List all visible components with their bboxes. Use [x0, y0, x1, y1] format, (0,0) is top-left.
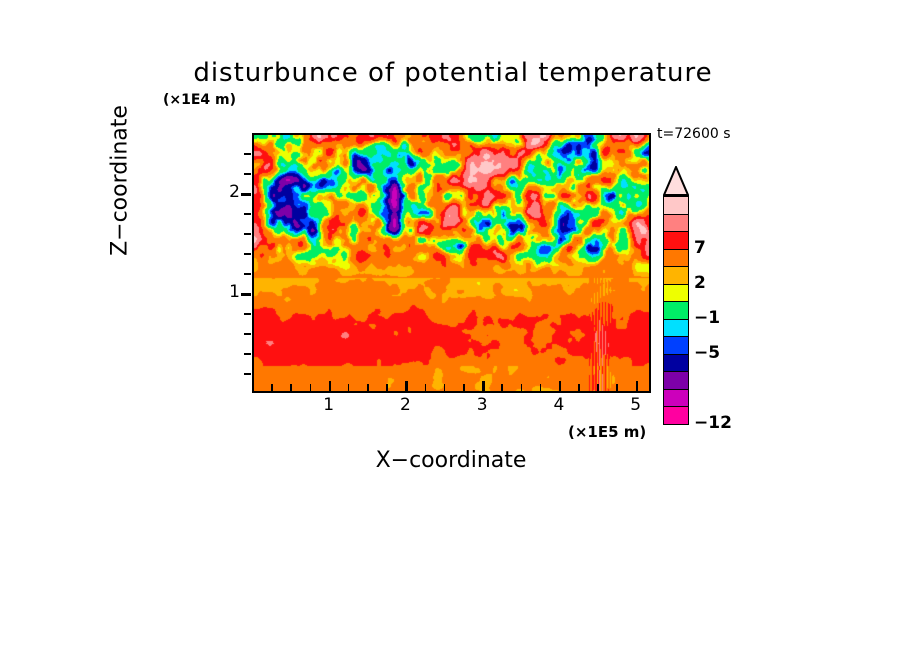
y-axis-tick — [244, 213, 251, 215]
y-axis-tick — [241, 293, 251, 296]
y-axis-tick — [244, 233, 251, 235]
x-axis-tick — [597, 384, 599, 391]
y-axis-tick — [244, 373, 251, 375]
x-axis-tick — [521, 384, 523, 391]
x-axis-tick — [310, 384, 312, 391]
x-axis-tick — [559, 381, 562, 391]
x-axis-tick-label: 2 — [393, 395, 417, 415]
y-axis-tick — [244, 273, 251, 275]
x-axis-tick — [636, 381, 639, 391]
contour-plot-area — [252, 133, 651, 393]
y-axis-title: Z−coordinate — [108, 51, 133, 311]
x-axis-title: X−coordinate — [251, 448, 651, 473]
x-axis-tick — [578, 384, 580, 391]
x-axis-tick — [386, 384, 388, 391]
x-axis-tick — [367, 384, 369, 391]
colorbar-segment — [663, 196, 689, 215]
x-axis-tick — [405, 381, 408, 391]
x-axis-tick — [444, 384, 446, 391]
y-axis-tick — [244, 333, 251, 335]
colorbar — [663, 166, 689, 394]
x-axis-tick — [463, 384, 465, 391]
x-axis-tick — [290, 384, 292, 391]
colorbar-segment — [663, 231, 689, 250]
colorbar-segment — [663, 266, 689, 285]
colorbar-tick-label: 2 — [694, 273, 706, 293]
colorbar-segment — [663, 371, 689, 390]
colorbar-arrow-tip — [663, 166, 689, 196]
y-axis-tick — [244, 353, 251, 355]
colorbar-tick-label: −12 — [694, 413, 732, 433]
colorbar-segment — [663, 406, 689, 425]
y-axis-tick — [244, 313, 251, 315]
colorbar-tick-label: −1 — [694, 308, 720, 328]
colorbar-segment — [663, 319, 689, 338]
y-axis-tick — [241, 193, 251, 196]
x-axis-tick-label: 5 — [624, 395, 648, 415]
x-axis-tick — [482, 381, 485, 391]
x-axis-tick-label: 4 — [547, 395, 571, 415]
figure-canvas: disturbunce of potential temperature (×1… — [0, 0, 904, 654]
chart-title: disturbunce of potential temperature — [168, 58, 738, 88]
colorbar-segment — [663, 354, 689, 373]
x-axis-tick — [348, 384, 350, 391]
y-axis-tick — [244, 253, 251, 255]
colorbar-segment — [663, 336, 689, 355]
x-axis-tick — [540, 384, 542, 391]
colorbar-tick-label: 7 — [694, 238, 706, 258]
colorbar-segment — [663, 301, 689, 320]
y-axis-tick — [244, 153, 251, 155]
x-axis-tick-label: 1 — [317, 395, 341, 415]
y-axis-tick-label: 1 — [222, 282, 240, 302]
x-axis-tick — [616, 384, 618, 391]
colorbar-segment — [663, 284, 689, 303]
contour-field — [254, 135, 651, 393]
x-axis-tick — [501, 384, 503, 391]
y-axis-tick — [244, 173, 251, 175]
timestamp-label: t=72600 s — [657, 126, 731, 142]
colorbar-segment — [663, 249, 689, 268]
x-axis-unit-label: (×1E5 m) — [568, 423, 646, 441]
x-axis-tick — [425, 384, 427, 391]
colorbar-tick-label: −5 — [694, 343, 720, 363]
colorbar-segment — [663, 389, 689, 408]
y-axis-tick-label: 2 — [222, 182, 240, 202]
x-axis-tick — [271, 384, 273, 391]
x-axis-tick — [329, 381, 332, 391]
x-axis-tick-label: 3 — [470, 395, 494, 415]
colorbar-segment — [663, 214, 689, 233]
y-axis-unit-label: (×1E4 m) — [163, 92, 236, 108]
